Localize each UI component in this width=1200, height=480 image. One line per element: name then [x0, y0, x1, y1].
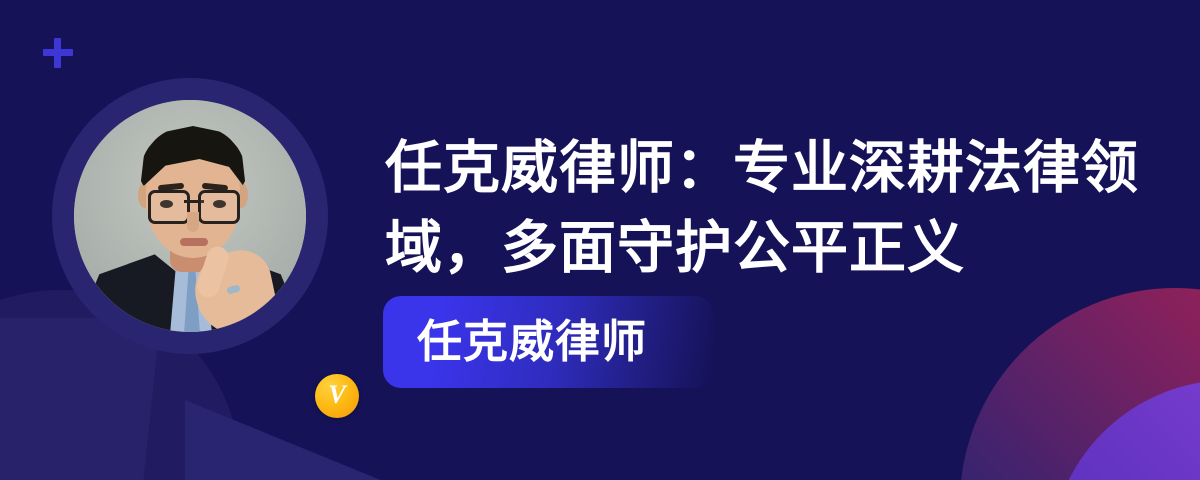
verified-badge: V: [315, 374, 359, 418]
verified-badge-glyph: V: [328, 382, 345, 408]
glasses-lens-left: [148, 190, 190, 224]
avatar-photo: [74, 100, 306, 332]
decorative-arc-crimson: [960, 288, 1200, 480]
plus-icon: [43, 38, 73, 68]
plus-icon-horizontal-bar: [43, 49, 73, 56]
name-pill-label: 任克威律师: [417, 316, 647, 368]
portrait-mouth: [180, 238, 208, 246]
glasses-lens-right: [198, 190, 240, 224]
decorative-triangle-left: [185, 400, 405, 480]
headline: 任克威律师：专业深耕法律领域，多面守护公平正义: [385, 128, 1175, 288]
plus-icon-vertical-bar: [54, 38, 61, 68]
decorative-arc-violet: [1050, 380, 1200, 480]
profile-banner: V 任克威律师 任克威律师：专业深耕法律领域，多面守护公平正义: [0, 0, 1200, 480]
portrait-nose: [187, 212, 199, 232]
avatar[interactable]: V: [52, 78, 328, 354]
